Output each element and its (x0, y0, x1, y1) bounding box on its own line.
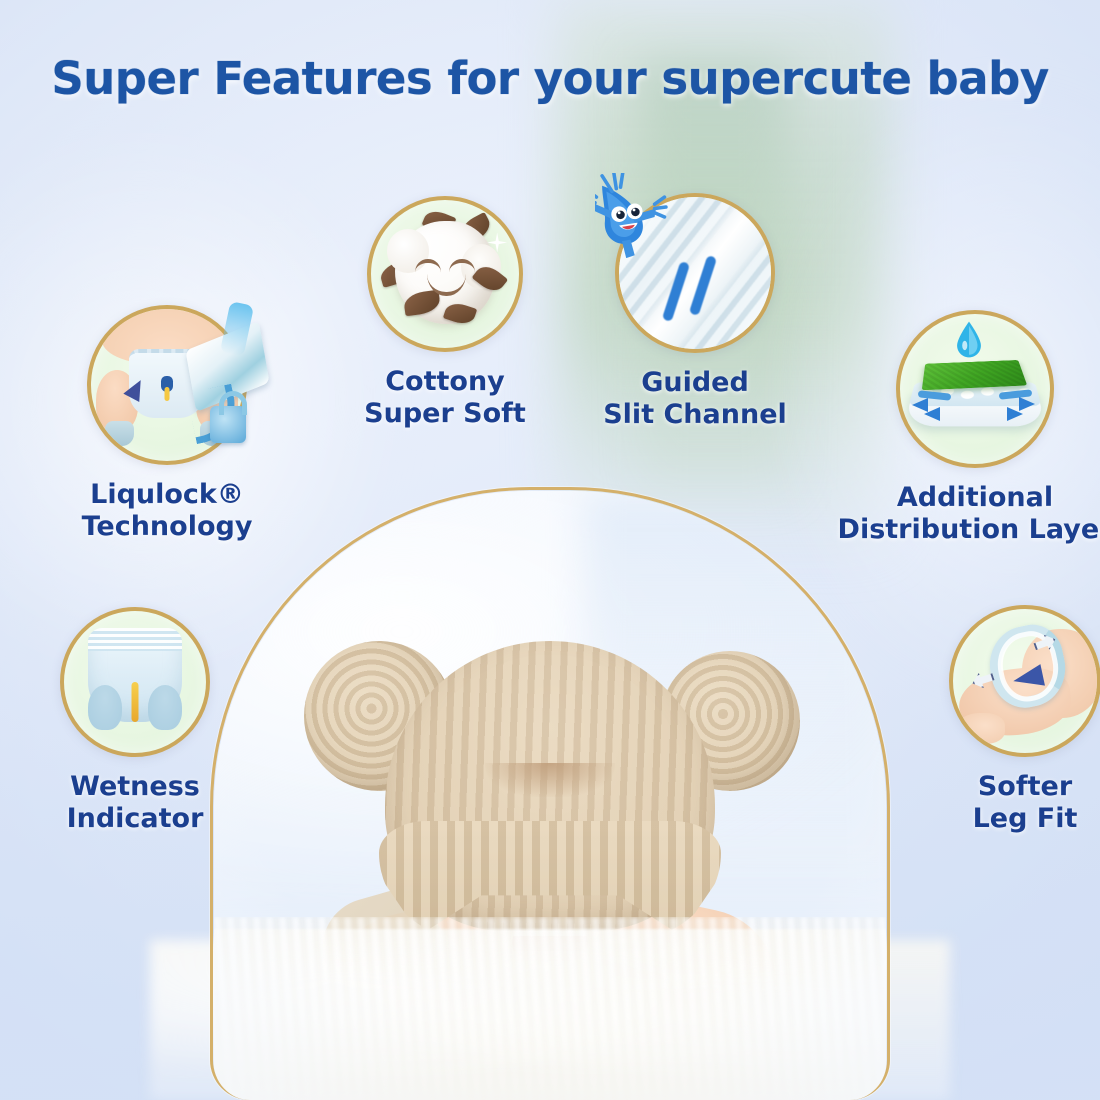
water-drop-character-icon (595, 173, 680, 258)
hero-photo-frame (210, 487, 890, 1100)
diaper-wetness-stripe (165, 387, 170, 401)
feature-label-softer: Softer Leg Fit (895, 771, 1100, 835)
feature-label-liqulock: Liqulock® Technology (37, 479, 297, 543)
feature-label-additional: Additional Distribution Layer (825, 482, 1100, 546)
softer-icon-circle (949, 605, 1100, 757)
green-layer-droplet-icon (900, 314, 1050, 464)
flow-arrow-left-2 (924, 407, 940, 421)
guided-icon-circle (615, 193, 775, 353)
feature-label-wetness: Wetness Indicator (5, 771, 265, 835)
feature-cottony[interactable]: Cottony Super Soft (315, 196, 575, 430)
flow-arrow-right-2 (1007, 407, 1023, 421)
diaper-pants-yellow-stripe-icon (64, 611, 206, 753)
baby-foot (956, 713, 1005, 745)
baby-sock-left (105, 421, 134, 445)
leg-opening-left (88, 685, 122, 730)
feature-guided-slit-channel[interactable]: Guided Slit Channel (565, 193, 825, 431)
liqulock-icon-circle (87, 305, 247, 465)
water-droplet-icon (956, 320, 982, 359)
leg-cuff-arrows-icon (953, 609, 1097, 753)
feature-wetness-indicator[interactable]: Wetness Indicator (5, 607, 265, 835)
leg-opening-right (148, 685, 182, 730)
promo-banner: Super Features for your supercute baby (0, 0, 1100, 1100)
feature-additional-distribution-layer[interactable]: Additional Distribution Layer (825, 310, 1100, 546)
feature-label-cottony: Cottony Super Soft (315, 366, 575, 430)
padlock-icon (210, 406, 246, 442)
cottony-icon-circle (367, 196, 523, 352)
wetness-indicator-stripe (132, 682, 139, 722)
smiling-cotton-ball-icon (371, 200, 519, 348)
diaper-waistband (88, 628, 182, 651)
hero-photo (210, 487, 890, 1100)
additional-icon-circle (896, 310, 1054, 468)
feature-liqulock[interactable]: Liqulock® Technology (37, 305, 297, 543)
feature-label-guided: Guided Slit Channel (565, 367, 825, 431)
page-title: Super Features for your supercute baby (0, 52, 1100, 105)
green-distribution-layer (922, 360, 1027, 390)
wetness-icon-circle (60, 607, 210, 757)
feature-softer-leg-fit[interactable]: Softer Leg Fit (895, 605, 1100, 835)
